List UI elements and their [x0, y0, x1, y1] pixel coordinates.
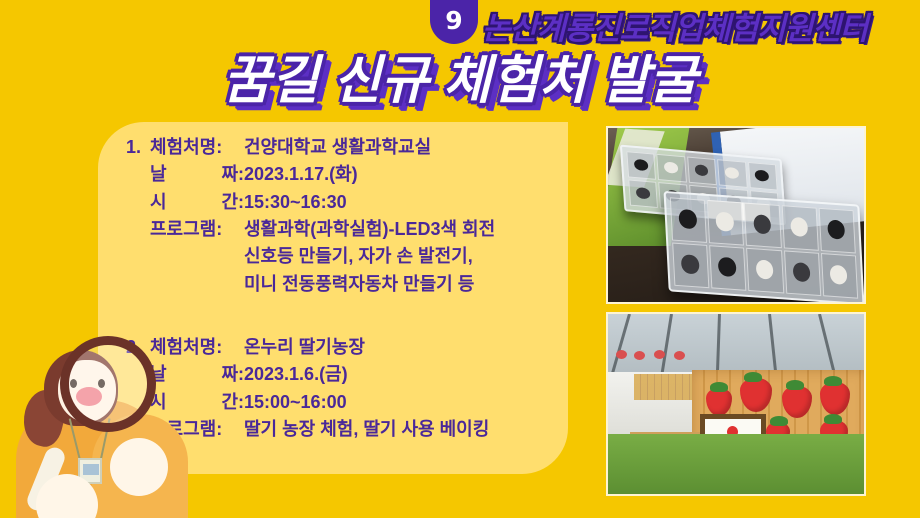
photo-2-pot [654, 350, 665, 359]
entry-1-date-value: 2023.1.17.(화) [244, 161, 358, 188]
photo-2-strawberry-mural [706, 388, 732, 416]
entry-1-date-label-a: 날 [150, 161, 167, 188]
entry-1-time-label: 시 간: [150, 189, 244, 216]
slide-canvas: 9 논산계룡진로직업체험지원센터 꿈길 신규 체험처 발굴 1. 체험처명: 건… [0, 0, 920, 518]
entry-1-date-label: 날 짜: [150, 161, 244, 188]
photo-2-strawberry-mural [782, 386, 812, 418]
photo-2-pot [616, 350, 627, 359]
photo-1-cell [781, 205, 818, 251]
header: 9 논산계룡진로직업체험지원센터 [420, 0, 920, 52]
entry-1-program-value: 생활과학(과학실험)-LED3색 회전 [244, 216, 495, 243]
character-hand-right [110, 438, 168, 496]
entry-1-date-label-b: 짜: [221, 161, 244, 188]
photo-1-front-compartments [670, 197, 858, 298]
entry-1-place-row: 1. 체험처명: 건양대학교 생활과학교실 [126, 134, 495, 161]
photo-2-strawberry-mural [820, 382, 850, 415]
magnifying-glass-icon [60, 336, 156, 432]
photo-2-flower-pots [616, 350, 696, 362]
slide-number: 9 [445, 8, 462, 33]
photo-2-content [608, 314, 864, 494]
entry-2-place-value: 온누리 딸기농장 [244, 334, 365, 361]
experience-entry-1: 1. 체험처명: 건양대학교 생활과학교실 날 짜: 2023.1.17.(화)… [126, 134, 495, 298]
entry-2-program-value: 딸기 농장 체험, 딸기 사용 베이킹 [244, 416, 489, 443]
entry-2-date-label-b: 짜: [221, 361, 244, 388]
photo-1-cell [748, 162, 778, 191]
entry-1-place-value: 건양대학교 생활과학교실 [244, 134, 431, 161]
photo-1-cell [821, 253, 858, 299]
entry-1-number: 1. [126, 134, 150, 161]
photo-1-cell [657, 154, 687, 183]
photo-2-wall-banner [634, 374, 696, 400]
photo-1-cell [687, 157, 717, 186]
photo-1-parts-box-front [664, 191, 865, 304]
photo-1-cell [744, 203, 781, 249]
photo-1-cell [672, 243, 709, 289]
entry-1-program-cont-1: 신호등 만들기, 자가 손 발전기, [126, 243, 495, 270]
photo-1-cell [784, 250, 821, 296]
photo-strawberry-farm-interior [606, 312, 866, 496]
photo-2-artificial-grass [608, 434, 866, 494]
photo-2-strawberry-mural [740, 378, 772, 412]
photo-1-cell [709, 245, 746, 291]
photo-2-pot [674, 351, 685, 360]
illustration-woman-with-magnifying-glass [0, 340, 200, 518]
entry-2-time-label-b: 간: [221, 389, 244, 416]
entry-1-place-label: 체험처명: [150, 134, 244, 161]
entry-2-time-value: 15:00~16:00 [244, 389, 347, 416]
entry-1-date-row: 날 짜: 2023.1.17.(화) [126, 161, 495, 188]
entry-2-date-value: 2023.1.6.(금) [244, 361, 348, 388]
photo-1-content [608, 128, 864, 302]
entry-1-program-row: 프로그램: 생활과학(과학실험)-LED3색 회전 [126, 216, 495, 243]
entry-1-time-value: 15:30~16:30 [244, 189, 347, 216]
photo-science-kit-parts-boxes [606, 126, 866, 304]
photo-1-cell [746, 248, 783, 294]
entry-1-program-label: 프로그램: [150, 216, 244, 243]
photo-1-cell [626, 151, 656, 180]
photo-1-cell [628, 179, 658, 208]
entry-1-time-row: 시 간: 15:30~16:30 [126, 189, 495, 216]
photo-1-cell [670, 197, 707, 243]
entry-1-time-label-b: 간: [221, 189, 244, 216]
slide-number-badge: 9 [430, 0, 478, 44]
entry-1-program-cont-2: 미니 전동풍력자동차 만들기 등 [126, 271, 495, 298]
organization-name: 논산계룡진로직업체험지원센터 [482, 3, 867, 48]
entry-1-time-label-a: 시 [150, 189, 167, 216]
photo-1-cell [707, 200, 744, 246]
photo-2-pot [634, 351, 645, 360]
page-title: 꿈길 신규 체험처 발굴 [0, 52, 920, 112]
photo-1-cell [818, 208, 855, 254]
photo-1-cell [717, 159, 747, 188]
